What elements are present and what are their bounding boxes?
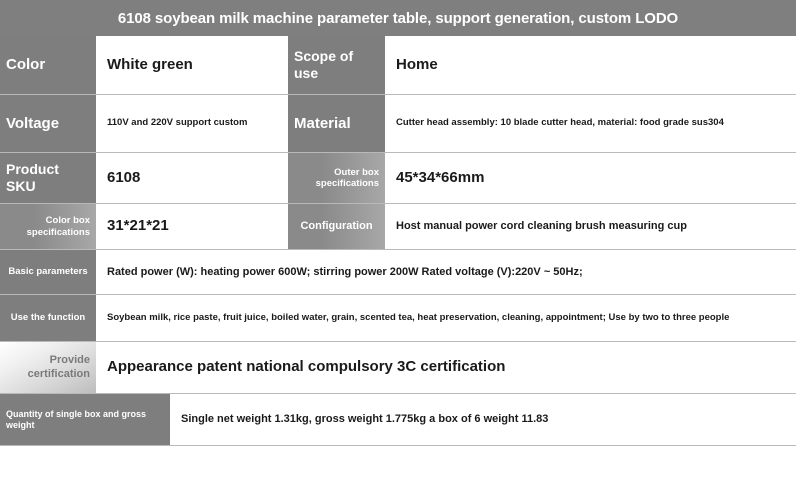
row-label-configuration: Configuration xyxy=(288,204,385,249)
row-value-provide-certification: Appearance patent national compulsory 3C… xyxy=(96,342,796,393)
row-label-use-the-function: Use the function xyxy=(0,295,96,341)
table-row: Product SKU 6108 Outer box specification… xyxy=(0,153,796,204)
row-value-use-the-function: Soybean milk, rice paste, fruit juice, b… xyxy=(96,295,796,341)
row-value-quantity-and-gross-weight: Single net weight 1.31kg, gross weight 1… xyxy=(170,394,796,445)
row-value-scope-of-use: Home xyxy=(385,36,796,94)
table-row: Basic parameters Rated power (W): heatin… xyxy=(0,250,796,295)
row-value-material: Cutter head assembly: 10 blade cutter he… xyxy=(385,95,796,152)
row-label-basic-parameters: Basic parameters xyxy=(0,250,96,294)
page-title: 6108 soybean milk machine parameter tabl… xyxy=(118,10,678,27)
table-header-band: 6108 soybean milk machine parameter tabl… xyxy=(0,0,796,36)
row-value-color-box-specifications: 31*21*21 xyxy=(96,204,288,249)
row-value-basic-parameters: Rated power (W): heating power 600W; sti… xyxy=(96,250,796,294)
row-label-outer-box-specifications: Outer box specifications xyxy=(288,153,385,203)
row-label-quantity-and-gross-weight: Quantity of single box and gross weight xyxy=(0,394,170,445)
row-label-color-box-specifications: Color box specifications xyxy=(0,204,96,249)
parameter-table-sheet: 6108 soybean milk machine parameter tabl… xyxy=(0,0,796,477)
row-label-color: Color xyxy=(0,36,96,94)
table-row: Color box specifications 31*21*21 Config… xyxy=(0,204,796,250)
table-row: Quantity of single box and gross weight … xyxy=(0,394,796,446)
row-label-product-sku: Product SKU xyxy=(0,153,96,203)
row-value-product-sku: 6108 xyxy=(96,153,288,203)
table-row: Color White green Scope of use Home xyxy=(0,36,796,95)
table-row: Provide certification Appearance patent … xyxy=(0,342,796,394)
row-value-color: White green xyxy=(96,36,288,94)
table-row: Use the function Soybean milk, rice past… xyxy=(0,295,796,342)
row-label-scope-of-use: Scope of use xyxy=(288,36,385,94)
row-label-provide-certification: Provide certification xyxy=(0,342,96,393)
row-label-material: Material xyxy=(288,95,385,152)
row-value-configuration: Host manual power cord cleaning brush me… xyxy=(385,204,796,249)
row-value-voltage: 110V and 220V support custom xyxy=(96,95,288,152)
row-label-voltage: Voltage xyxy=(0,95,96,152)
parameter-table: Color White green Scope of use Home Volt… xyxy=(0,36,796,446)
row-value-outer-box-specifications: 45*34*66mm xyxy=(385,153,796,203)
table-row: Voltage 110V and 220V support custom Mat… xyxy=(0,95,796,153)
